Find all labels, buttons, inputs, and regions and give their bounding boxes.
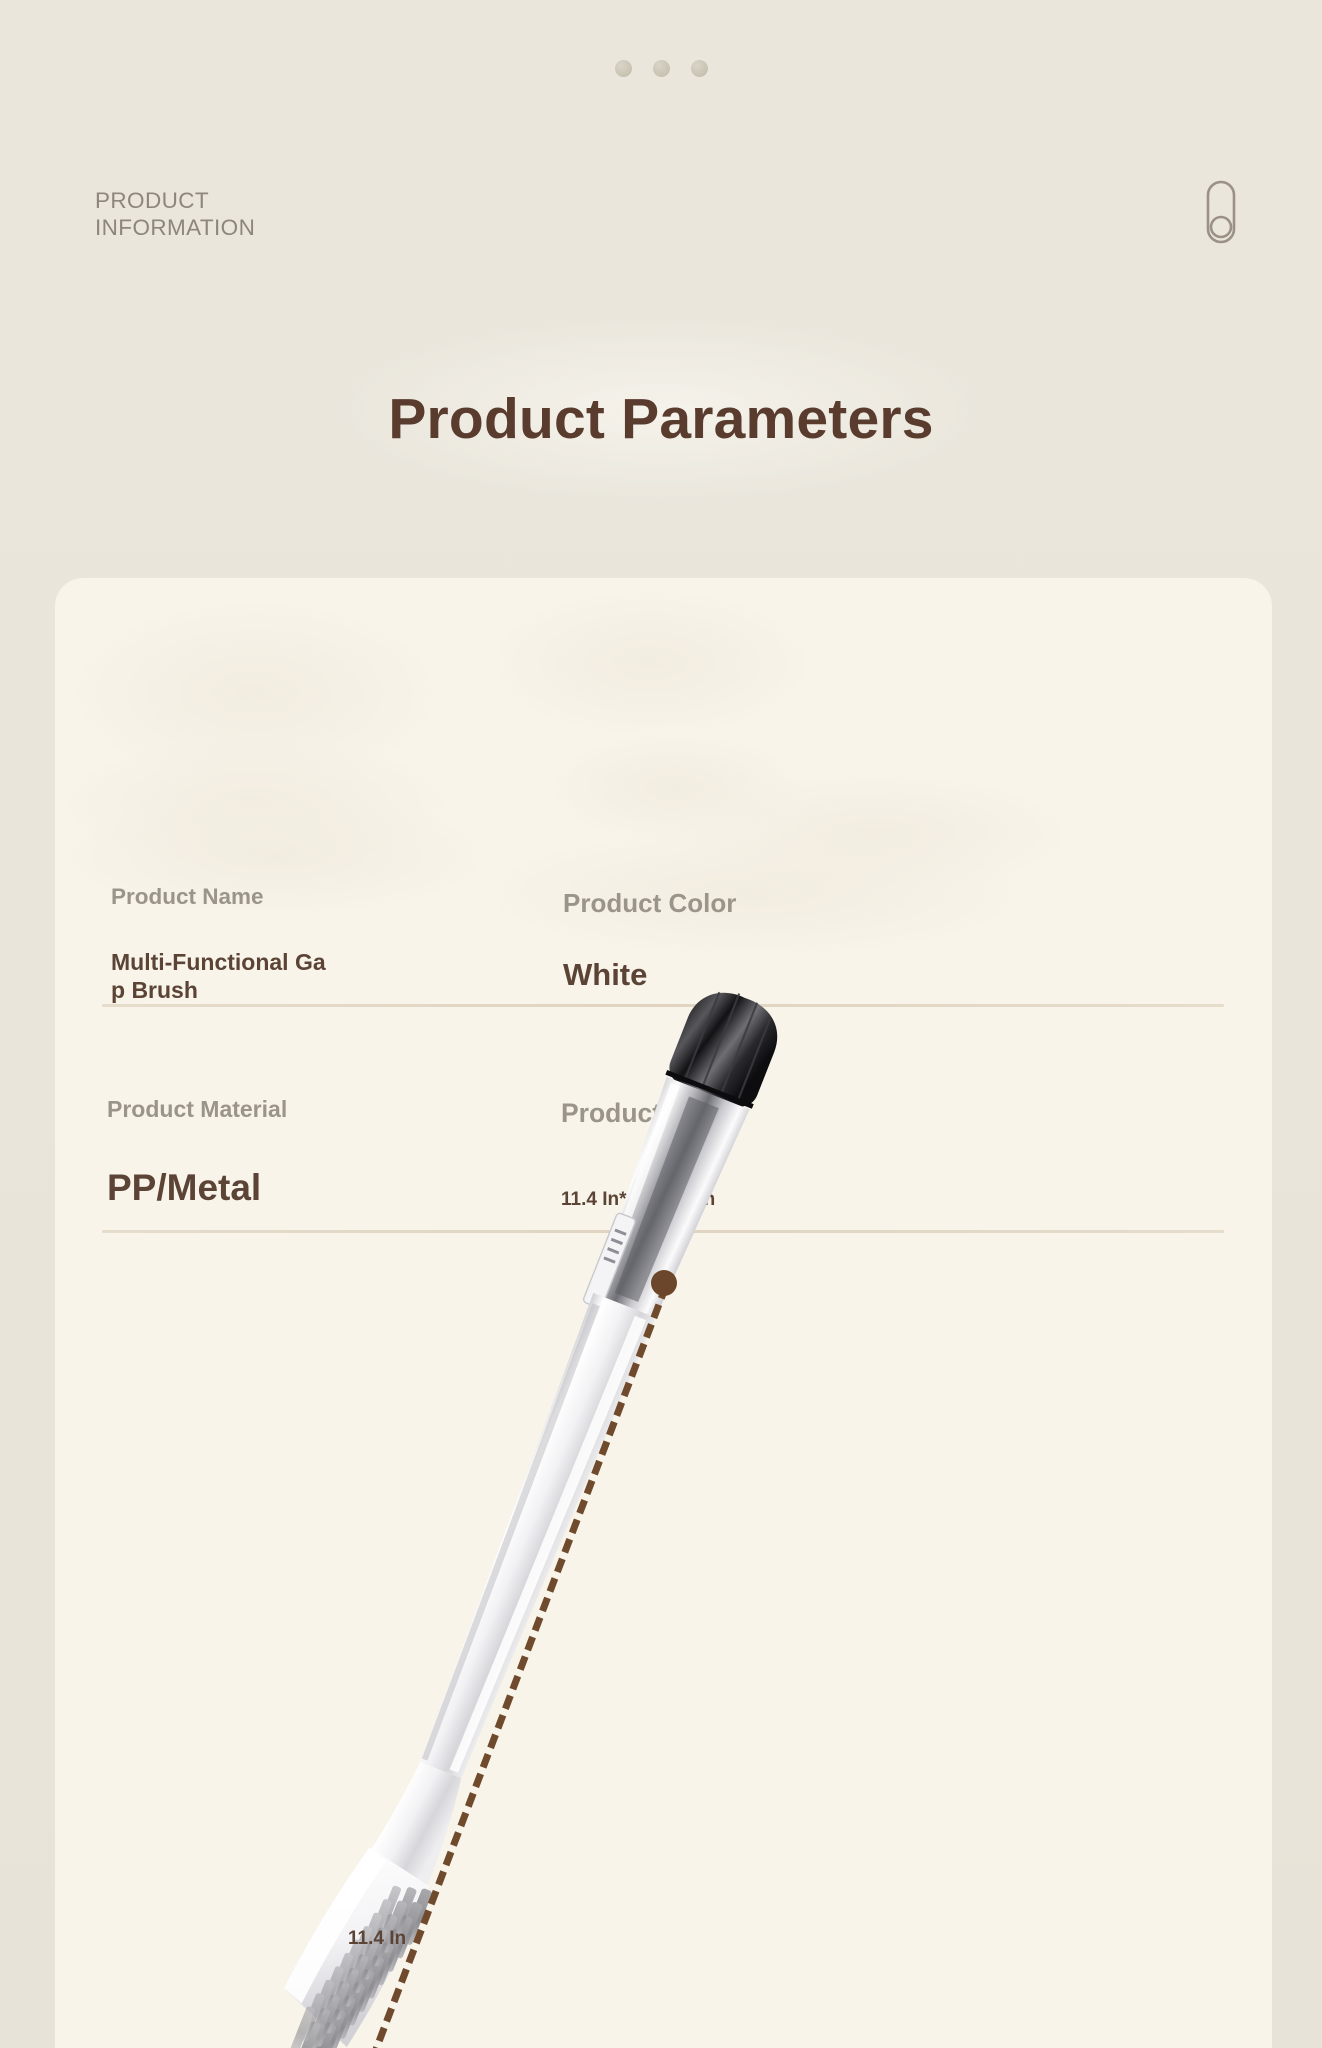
dot-2	[653, 60, 670, 77]
card-wash-1	[65, 598, 445, 788]
pin-capsule-icon[interactable]	[1200, 178, 1242, 246]
parameter-label: Product Color	[563, 888, 736, 919]
dimension-endpoint-top	[651, 1270, 677, 1296]
top-dots	[0, 60, 1322, 77]
gap-brush-illustration	[55, 918, 1272, 2048]
parameter-label: Product Name	[111, 884, 326, 910]
card-wash-3	[55, 738, 455, 868]
page-root: PRODUCT INFORMATION Product Parameters P…	[0, 0, 1322, 2048]
header-line-2: INFORMATION	[95, 215, 255, 242]
dot-3	[691, 60, 708, 77]
parameters-card: Product Name Multi-Functional Gap Brush …	[55, 578, 1272, 2048]
product-image-area: 11.4 In	[55, 918, 1272, 2048]
dot-1	[615, 60, 632, 77]
card-wash-7	[675, 773, 1075, 893]
card-wash-4	[545, 733, 805, 843]
header-line-1: PRODUCT	[95, 188, 255, 215]
product-information-label: PRODUCT INFORMATION	[95, 188, 255, 241]
card-wash-2	[485, 588, 815, 738]
page-title: Product Parameters	[0, 386, 1322, 452]
dimension-label: 11.4 In	[348, 1928, 406, 1950]
